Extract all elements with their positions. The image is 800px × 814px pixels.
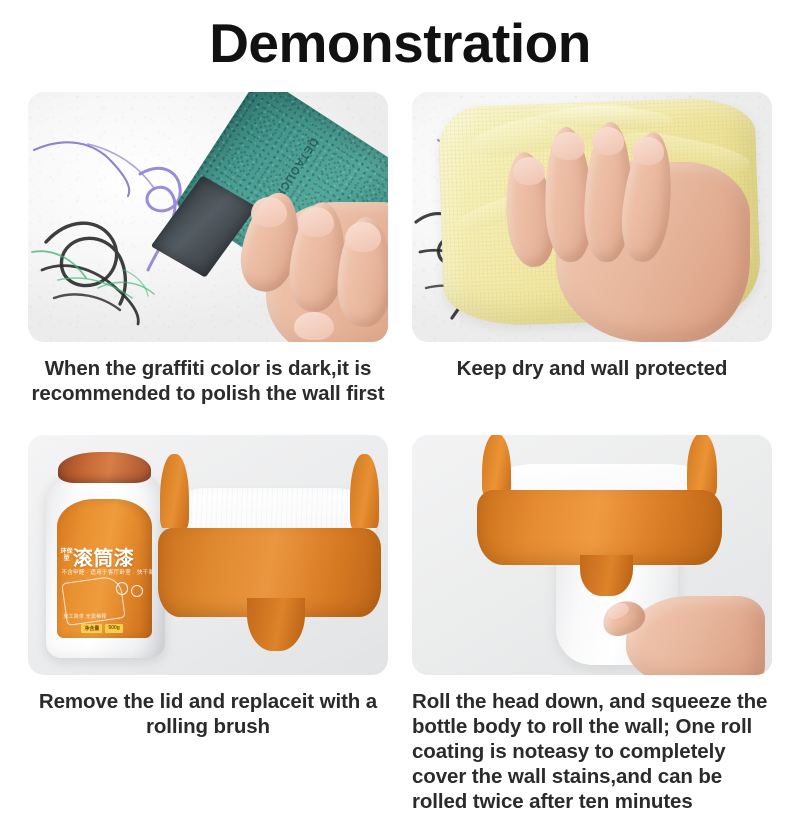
roller-arm-right xyxy=(687,435,716,495)
label-badge-netweight: 净含量 xyxy=(81,624,102,633)
roller-arm-right xyxy=(350,454,379,528)
label-subtitle: 不含甲醛 · 适用于客厅卧室 · 快干易涂刷 · 遮盖力强 xyxy=(61,568,147,576)
hand-squeezing-bottle xyxy=(599,579,765,675)
panel-replace-lid-photo: 环保型 滚筒漆 不含甲醛 · 适用于客厅卧室 · 快干易涂刷 · 遮盖力强 施工… xyxy=(28,435,388,675)
panel-polish-wall-caption: When the graffiti color is dark,it is re… xyxy=(28,356,388,406)
roller-frame xyxy=(477,490,722,564)
roller-brush-head xyxy=(158,488,381,642)
label-badge-circle-2 xyxy=(131,585,143,597)
label-title: 滚筒漆 xyxy=(73,542,135,571)
panel-polish-wall: QETAOUCH When the graffiti color is dark… xyxy=(28,92,388,406)
label-badges: 净含量 500g xyxy=(81,624,122,633)
roller-arm-left xyxy=(482,435,511,495)
panel-roll-wall-caption: Roll the head down, and squeeze the bott… xyxy=(412,689,772,814)
bottle-cap xyxy=(58,452,151,483)
panel-replace-lid: 环保型 滚筒漆 不含甲醛 · 适用于客厅卧室 · 快干易涂刷 · 遮盖力强 施工… xyxy=(28,435,388,739)
label-tag: 环保型 xyxy=(60,549,72,563)
panel-roll-wall: Roll the head down, and squeeze the bott… xyxy=(412,435,772,814)
panel-keep-dry: Keep dry and wall protected xyxy=(412,92,772,381)
page-title: Demonstration xyxy=(0,12,800,74)
panel-polish-wall-photo: QETAOUCH xyxy=(28,92,388,342)
label-badge-circle-1 xyxy=(116,582,128,594)
roller-neck xyxy=(247,598,305,650)
panel-keep-dry-caption: Keep dry and wall protected xyxy=(412,356,772,381)
panel-keep-dry-photo xyxy=(412,92,772,342)
paint-bottle: 环保型 滚筒漆 不含甲醛 · 适用于客厅卧室 · 快干易涂刷 · 遮盖力强 施工… xyxy=(46,452,165,658)
label-fineprint: 施工简单 无需稀释 xyxy=(63,613,106,620)
roller-arm-left xyxy=(160,454,189,528)
bottle-label: 环保型 滚筒漆 不含甲醛 · 适用于客厅卧室 · 快干易涂刷 · 遮盖力强 施工… xyxy=(57,499,152,637)
panel-replace-lid-caption: Remove the lid and replaceit with a roll… xyxy=(28,689,388,739)
roller-brush-head xyxy=(477,464,722,584)
label-badge-amount: 500g xyxy=(105,624,122,633)
panel-roll-wall-photo xyxy=(412,435,772,675)
